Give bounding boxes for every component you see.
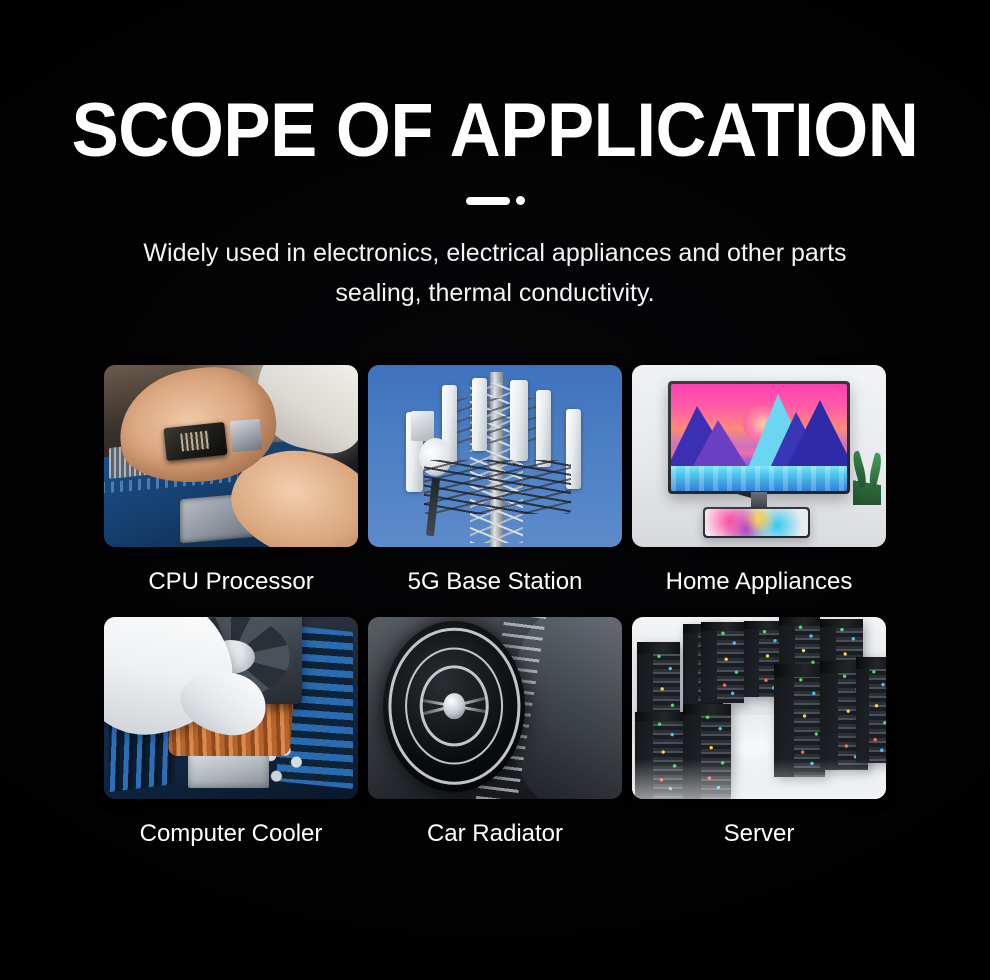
divider-bar: [466, 197, 510, 205]
grid-item-home-appliances[interactable]: Home Appliances: [632, 365, 886, 617]
server-racks-photo: [632, 617, 886, 799]
bar-dot-divider-icon: [463, 196, 527, 205]
divider-dot: [516, 196, 525, 205]
card-caption: CPU Processor: [104, 547, 358, 617]
card-caption: Server: [632, 799, 886, 869]
application-grid: CPU Processor: [104, 365, 886, 869]
card-caption: 5G Base Station: [368, 547, 622, 617]
grid-item-cpu-processor[interactable]: CPU Processor: [104, 365, 358, 617]
card-caption: Home Appliances: [632, 547, 886, 617]
section-subtitle: Widely used in electronics, electrical a…: [100, 233, 890, 313]
grid-item-server[interactable]: Server: [632, 617, 886, 869]
scope-of-application-section: SCOPE OF APPLICATION Widely used in elec…: [0, 0, 990, 980]
section-header: SCOPE OF APPLICATION Widely used in elec…: [0, 0, 990, 313]
grid-item-car-radiator[interactable]: Car Radiator: [368, 617, 622, 869]
car-vent-photo: [368, 617, 622, 799]
card-caption: Computer Cooler: [104, 799, 358, 869]
grid-item-computer-cooler[interactable]: Computer Cooler: [104, 617, 358, 869]
cpu-processor-photo: [104, 365, 358, 547]
card-caption: Car Radiator: [368, 799, 622, 869]
page-title: SCOPE OF APPLICATION: [35, 92, 956, 170]
cell-tower-photo: [368, 365, 622, 547]
monitor-desk-photo: [632, 365, 886, 547]
cpu-cooler-photo: [104, 617, 358, 799]
grid-item-5g-base-station[interactable]: 5G Base Station: [368, 365, 622, 617]
